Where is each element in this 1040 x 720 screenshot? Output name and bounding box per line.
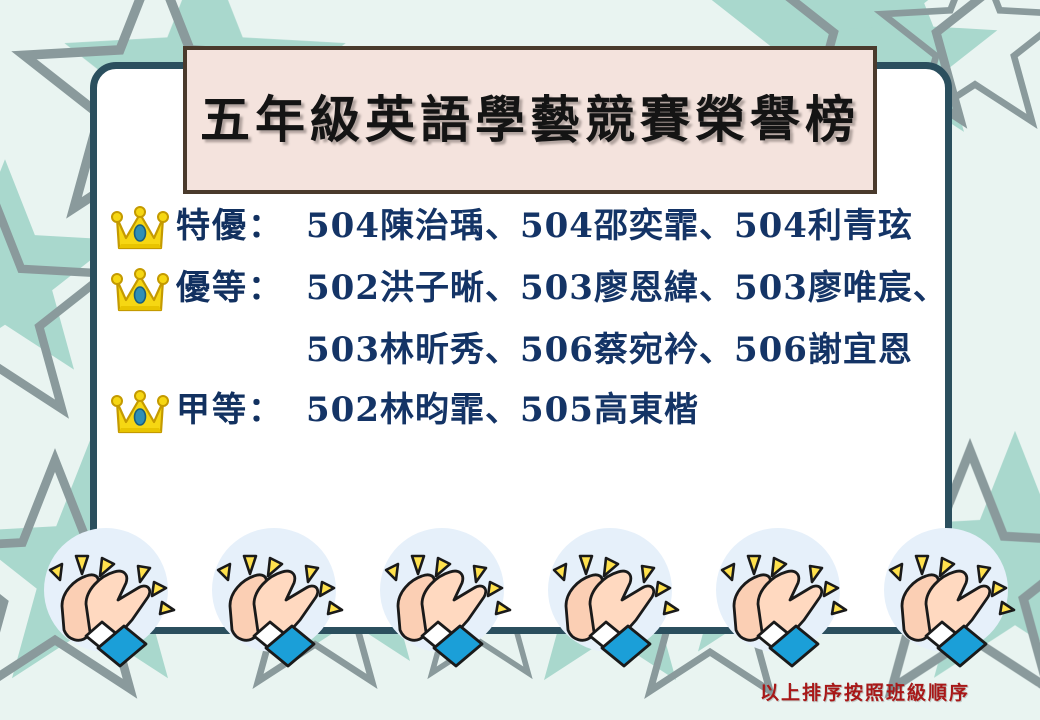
clapping-hands-icon — [196, 528, 366, 668]
clapping-hands-row — [0, 528, 1040, 668]
award-level-label: 甲等： — [176, 384, 306, 436]
footnote-text: 以上排序按照班級順序 — [760, 678, 970, 705]
clapping-hands-icon — [28, 528, 198, 668]
crown-icon — [104, 384, 176, 436]
page-title: 五年級英語學藝競賽榮譽榜 — [200, 95, 860, 145]
award-names: 504陳治瑀、504邵奕霏、504利青玹 — [306, 200, 934, 252]
clapping-hands-icon — [868, 528, 1038, 668]
list-item: 優等： 502洪子晰、503廖恩緯、503廖唯宸、 — [104, 262, 934, 320]
clapping-hands-icon — [700, 528, 870, 668]
honor-roll-list: 特優： 504陳治瑀、504邵奕霏、504利青玹 優等： 502洪子晰、503廖… — [104, 200, 934, 446]
clapping-hands-icon — [364, 528, 534, 668]
crown-icon — [104, 262, 176, 314]
list-item-continuation: 503林昕秀、506蔡宛衿、506謝宜恩 — [104, 324, 934, 380]
award-names: 502洪子晰、503廖恩緯、503廖唯宸、 — [306, 262, 948, 314]
award-level-label: 特優： — [176, 200, 306, 252]
clapping-hands-icon — [532, 528, 702, 668]
award-names: 502林昀霏、505高東楷 — [306, 384, 934, 436]
award-level-label: 優等： — [176, 262, 306, 314]
list-item: 甲等： 502林昀霏、505高東楷 — [104, 384, 934, 442]
award-names-continued: 503林昕秀、506蔡宛衿、506謝宜恩 — [306, 324, 934, 376]
title-banner: 五年級英語學藝競賽榮譽榜 — [183, 46, 877, 194]
crown-icon — [104, 200, 176, 252]
list-item: 特優： 504陳治瑀、504邵奕霏、504利青玹 — [104, 200, 934, 258]
slide-canvas: 五年級英語學藝競賽榮譽榜 特優： 504陳治瑀、504邵奕霏、504利青玹 — [0, 0, 1040, 720]
